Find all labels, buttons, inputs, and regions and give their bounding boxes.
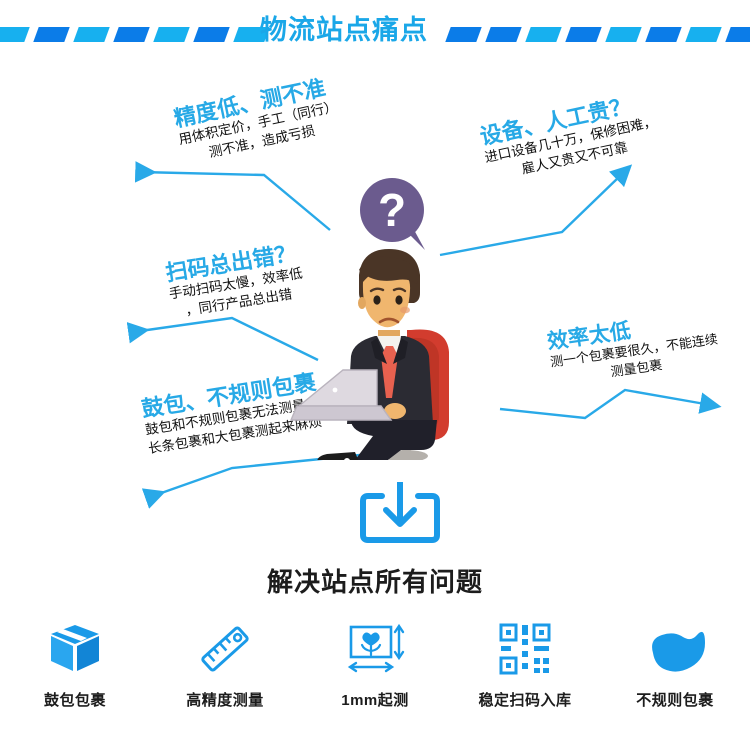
ruler-icon — [197, 620, 253, 678]
qr-code-icon — [497, 620, 553, 678]
dash-segment — [445, 27, 481, 42]
header-dashes-right — [448, 26, 750, 42]
dash-segment — [565, 27, 601, 42]
solve-headline: 解决站点所有问题 — [0, 562, 750, 599]
header-banner: 物流站点痛点 — [0, 0, 750, 66]
dash-segment — [193, 27, 229, 42]
question-mark-bubble-icon: ? — [360, 178, 425, 250]
dash-segment — [153, 27, 189, 42]
feature-high-precision-label: 高精度测量 — [186, 689, 264, 710]
dash-segment — [685, 27, 721, 42]
dash-segment — [725, 27, 750, 42]
arrow-speed — [500, 390, 705, 418]
feature-irregular-parcel-label: 不规则包裹 — [636, 689, 714, 710]
laptop-icon — [291, 370, 391, 420]
callout-cost: 设备、人工贵？ 进口设备几十万，保修困难， 雇人又贵又不可靠 — [478, 90, 662, 185]
feature-bulging-parcel: 鼓包包裹 — [0, 620, 150, 730]
dash-segment — [73, 27, 109, 42]
dash-segment — [0, 27, 30, 42]
feature-1mm: 1mm起测 — [300, 620, 450, 730]
callout-accuracy: 精度低、测不准 用体积定价，手工（同行） 测不准，造成亏损 — [172, 74, 343, 167]
dash-segment — [525, 27, 561, 42]
callout-speed: 效率太低 测一个包裹要很久，不能连续 测量包裹 — [546, 308, 721, 389]
import-download-icon — [358, 482, 442, 554]
feature-qr-scan-label: 稳定扫码入库 — [478, 689, 571, 710]
dash-segment — [645, 27, 681, 42]
dash-segment — [605, 27, 641, 42]
header-dashes-left — [0, 26, 267, 42]
feature-1mm-label: 1mm起测 — [341, 689, 409, 710]
dash-segment — [485, 27, 521, 42]
infographic-page: 物流站点痛点 — [0, 0, 750, 750]
businessman-illustration: ? — [285, 170, 485, 460]
dash-segment — [113, 27, 149, 42]
feature-irregular-parcel: 不规则包裹 — [600, 620, 750, 730]
bulging-box-icon — [47, 620, 103, 678]
arrow-irregular — [150, 455, 360, 497]
svg-text:?: ? — [378, 184, 406, 236]
dimension-measure-icon — [345, 620, 405, 678]
irregular-parcel-icon — [645, 620, 705, 678]
feature-bulging-parcel-label: 鼓包包裹 — [44, 689, 106, 710]
dash-segment — [33, 27, 69, 42]
page-title: 物流站点痛点 — [238, 11, 450, 49]
feature-row: 鼓包包裹 高精度测量 — [0, 620, 750, 730]
feature-qr-scan: 稳定扫码入库 — [450, 620, 600, 730]
feature-high-precision: 高精度测量 — [150, 620, 300, 730]
